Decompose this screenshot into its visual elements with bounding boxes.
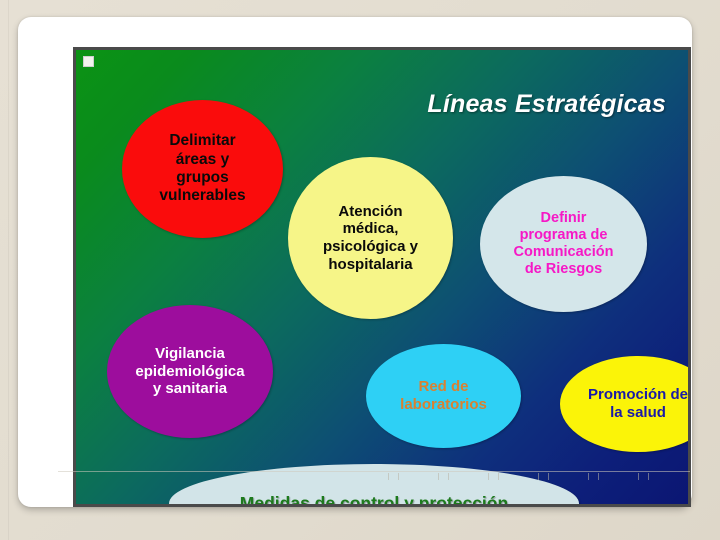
ruler-tick <box>648 473 649 480</box>
node-atencion-medica-label: Atención médica, psicológica y hospitala… <box>294 203 447 274</box>
node-vigilancia-epidemiologica-label: Vigilancia epidemiológica y sanitaria <box>113 345 267 398</box>
ruler-strip <box>58 471 690 483</box>
node-promocion-salud-label: Promoción de la salud <box>566 386 691 421</box>
slide-card: Líneas Estratégicas Delimitar áreas y gr… <box>18 17 692 507</box>
backdrop-seam <box>8 0 9 540</box>
ruler-tick <box>488 473 489 480</box>
node-definir-programa-comunicacion-label: Definir programa de Comunicación de Ries… <box>486 210 641 278</box>
ruler-tick <box>538 473 539 480</box>
node-delimitar-label: Delimitar áreas y grupos vulnerables <box>128 132 277 205</box>
slide-selection-handle[interactable] <box>83 56 94 67</box>
ruler-tick <box>388 473 389 480</box>
ruler-tick <box>448 473 449 480</box>
ruler-tick <box>588 473 589 480</box>
ruler-tick <box>548 473 549 480</box>
node-red-laboratorios[interactable]: Red de laboratorios <box>366 344 521 448</box>
application-root: Líneas Estratégicas Delimitar áreas y gr… <box>0 0 720 540</box>
ruler-baseline <box>58 471 690 472</box>
ruler-tick <box>398 473 399 480</box>
node-atencion-medica[interactable]: Atención médica, psicológica y hospitala… <box>288 157 453 319</box>
ruler-tick <box>638 473 639 480</box>
presentation-slide[interactable]: Líneas Estratégicas Delimitar áreas y gr… <box>73 47 691 507</box>
ruler-tick <box>498 473 499 480</box>
node-delimitar[interactable]: Delimitar áreas y grupos vulnerables <box>122 100 283 238</box>
node-promocion-salud[interactable]: Promoción de la salud <box>560 356 691 452</box>
ruler-tick <box>598 473 599 480</box>
node-red-laboratorios-label: Red de laboratorios <box>372 378 515 413</box>
ruler-tick <box>438 473 439 480</box>
slide-title: Líneas Estratégicas <box>427 90 666 119</box>
node-vigilancia-epidemiologica[interactable]: Vigilancia epidemiológica y sanitaria <box>107 305 273 438</box>
node-definir-programa-comunicacion[interactable]: Definir programa de Comunicación de Ries… <box>480 176 647 312</box>
node-medidas-control-proteccion-label: Medidas de control y protección <box>175 493 573 507</box>
